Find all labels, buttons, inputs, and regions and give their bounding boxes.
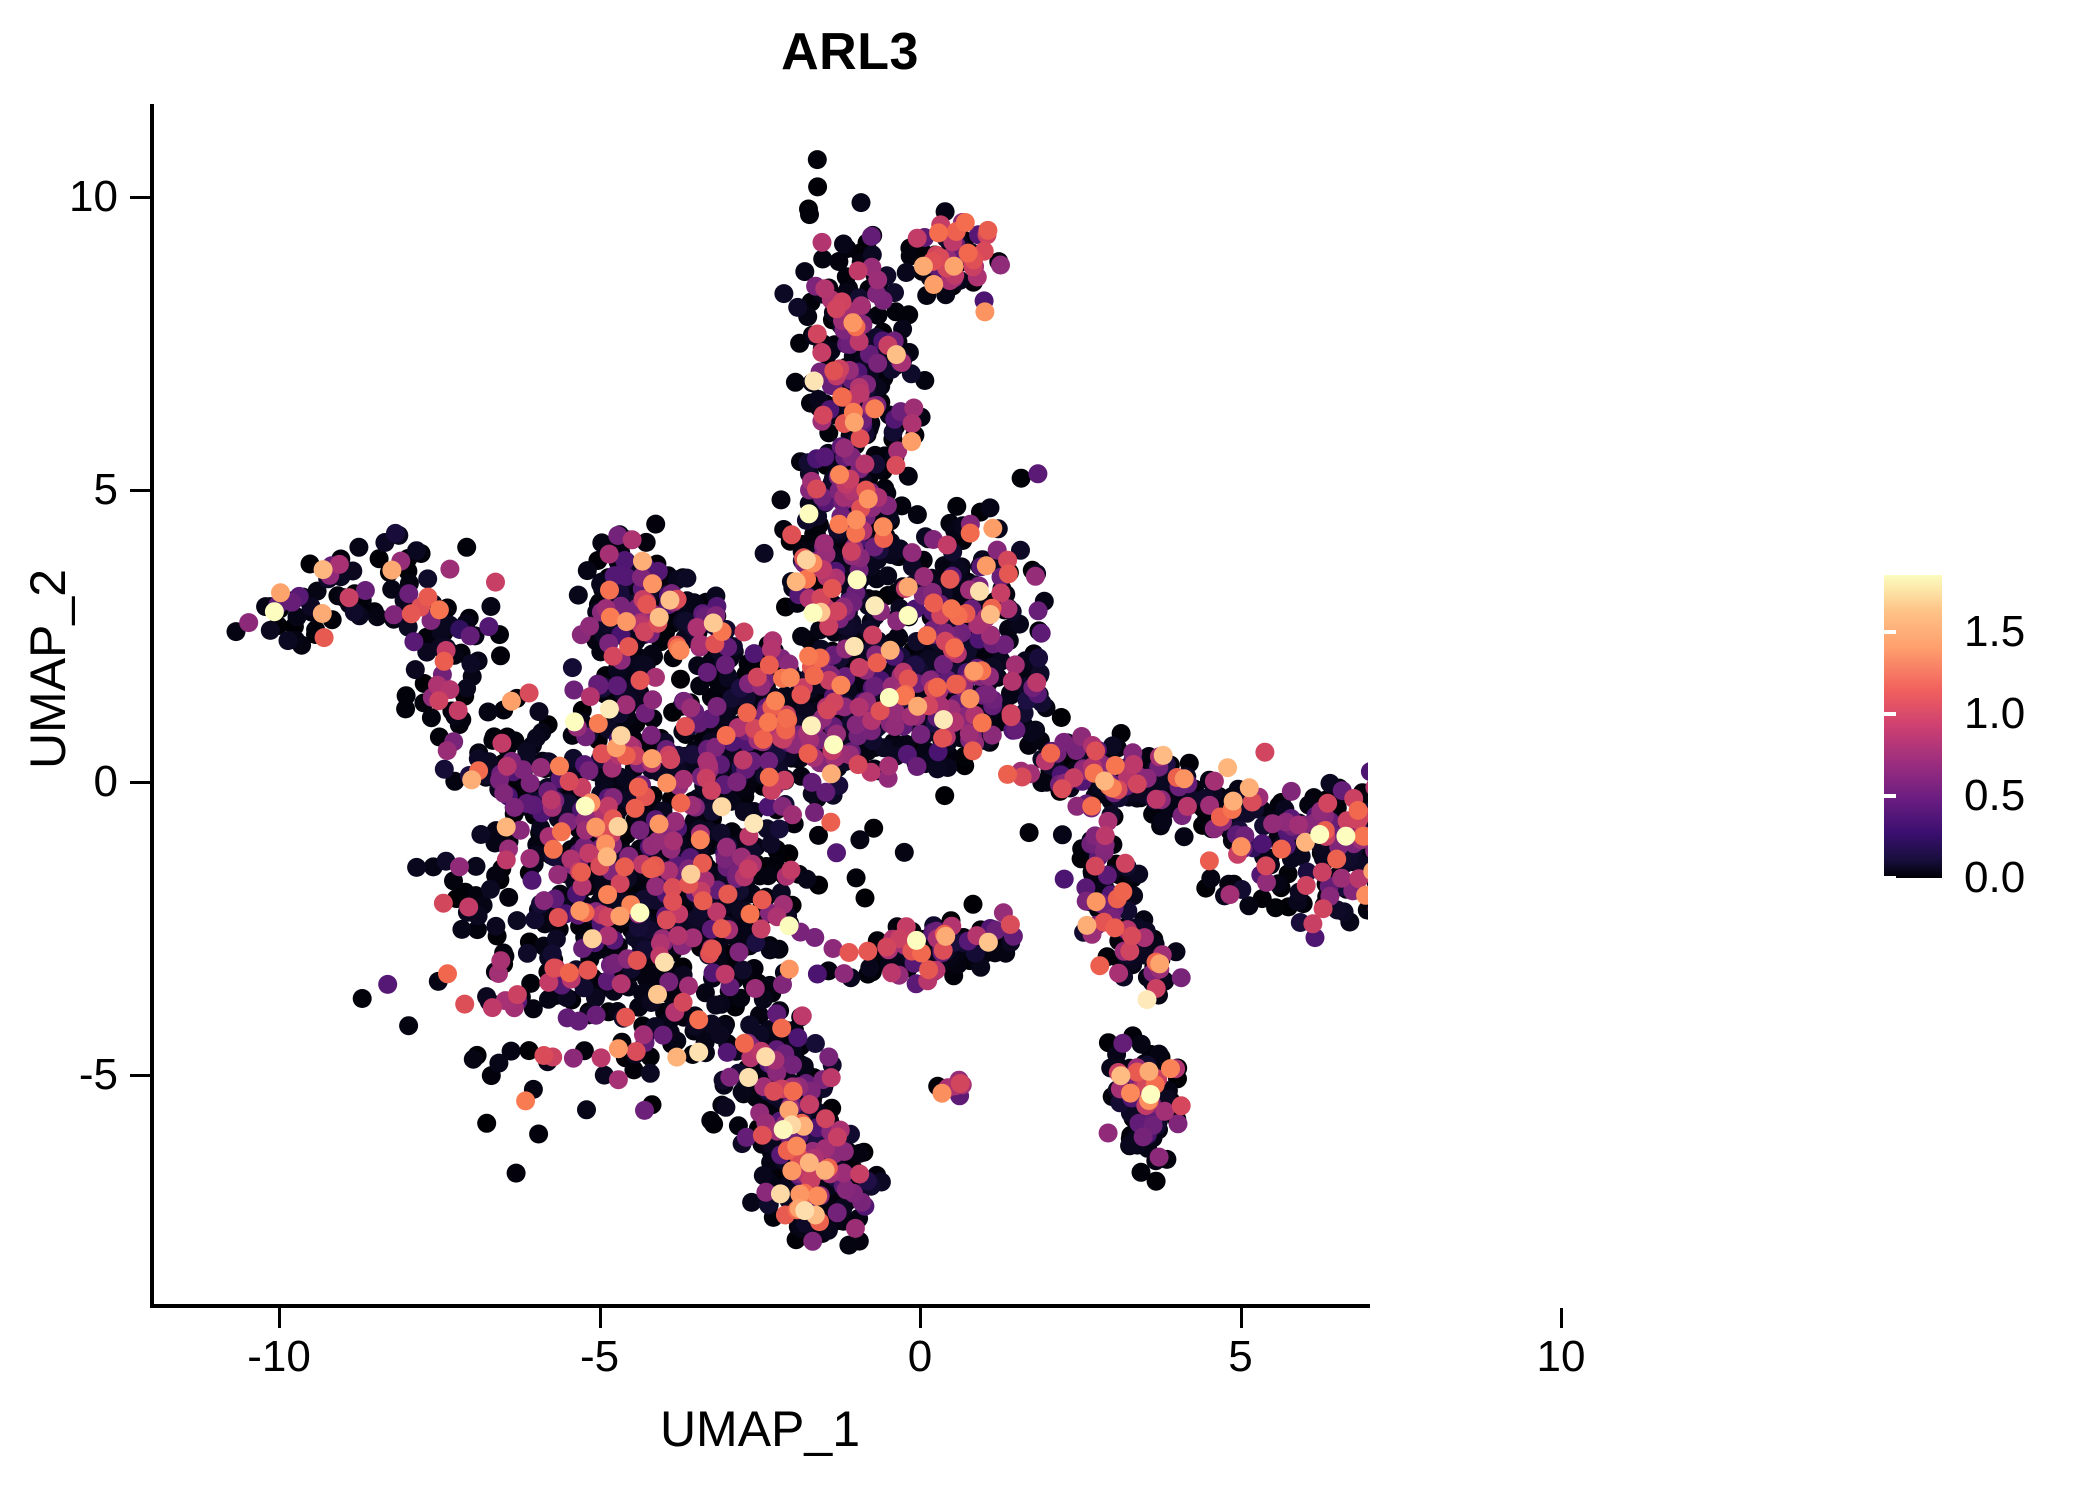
x-tick-mark	[278, 1308, 281, 1328]
scatter-point	[1221, 885, 1240, 904]
scatter-point	[846, 1219, 865, 1238]
scatter-point	[702, 781, 721, 800]
scatter-point	[677, 569, 696, 588]
scatter-point	[774, 284, 793, 303]
colorbar-tick-mark	[2072, 712, 2084, 716]
scatter-point	[520, 684, 539, 703]
scatter-plot-panel	[152, 104, 1368, 1306]
scatter-point	[961, 524, 980, 543]
scatter-point	[1027, 673, 1046, 692]
scatter-point	[850, 830, 869, 849]
scatter-point	[384, 605, 403, 624]
scatter-point	[717, 726, 736, 745]
scatter-point	[881, 641, 900, 660]
page-title: ARL3	[0, 22, 1700, 82]
scatter-point	[1053, 825, 1072, 844]
scatter-point	[548, 865, 567, 884]
scatter-point	[981, 605, 1000, 624]
y-tick-mark	[130, 196, 150, 199]
scatter-point	[800, 205, 819, 224]
scatter-point	[497, 818, 516, 837]
scatter-point	[698, 663, 717, 682]
scatter-point	[1121, 1084, 1140, 1103]
scatter-point	[973, 713, 992, 732]
scatter-point	[402, 604, 421, 623]
scatter-point	[739, 1068, 758, 1087]
scatter-point	[928, 678, 947, 697]
scatter-point	[404, 632, 423, 651]
scatter-point	[716, 965, 735, 984]
scatter-point	[978, 685, 997, 704]
scatter-point	[313, 604, 332, 623]
scatter-point	[782, 1161, 801, 1180]
scatter-point	[848, 570, 867, 589]
scatter-point	[746, 979, 765, 998]
scatter-point	[349, 538, 368, 557]
scatter-point	[661, 750, 680, 769]
scatter-point	[609, 817, 628, 836]
scatter-point	[498, 757, 517, 776]
scatter-point	[813, 250, 832, 269]
scatter-point	[832, 387, 851, 406]
scatter-point	[544, 840, 563, 859]
scatter-point	[936, 927, 955, 946]
scatter-point	[824, 735, 843, 754]
x-tick-label: -10	[247, 1332, 311, 1382]
scatter-point	[712, 919, 731, 938]
scatter-point	[899, 578, 918, 597]
scatter-point	[754, 730, 773, 749]
scatter-point	[849, 755, 868, 774]
scatter-point	[502, 692, 521, 711]
scatter-point	[1113, 1034, 1132, 1053]
scatter-point	[600, 700, 619, 719]
scatter-point	[1150, 954, 1169, 973]
scatter-point	[1282, 782, 1301, 801]
scatter-point	[1218, 758, 1237, 777]
scatter-point	[738, 703, 757, 722]
scatter-point	[998, 765, 1017, 784]
scatter-point	[865, 596, 884, 615]
scatter-point	[560, 963, 579, 982]
scatter-point	[802, 716, 821, 735]
scatter-point	[804, 604, 823, 623]
scatter-point	[1055, 870, 1074, 889]
colorbar-tick-label: 0.0	[1964, 853, 2025, 903]
scatter-point	[689, 1010, 708, 1029]
scatter-point	[564, 1049, 583, 1068]
scatter-point	[800, 1095, 819, 1114]
scatter-point	[753, 1126, 772, 1145]
scatter-point	[1172, 968, 1191, 987]
scatter-point	[945, 257, 964, 276]
scatter-point	[407, 541, 426, 560]
scatter-point	[808, 150, 827, 169]
scatter-point	[805, 803, 824, 822]
colorbar-tick-label: 0.5	[1964, 771, 2025, 821]
scatter-point	[616, 1008, 635, 1027]
scatter-point	[600, 581, 619, 600]
scatter-point	[315, 628, 334, 647]
scatter-point	[959, 244, 978, 263]
scatter-point	[1012, 469, 1031, 488]
scatter-point	[542, 790, 561, 809]
scatter-point	[754, 1166, 773, 1185]
scatter-point	[579, 761, 598, 780]
scatter-point	[865, 399, 884, 418]
scatter-point	[1332, 869, 1351, 888]
scatter-point	[521, 774, 540, 793]
scatter-point	[897, 263, 916, 282]
scatter-point	[845, 637, 864, 656]
scatter-point	[586, 818, 605, 837]
scatter-point	[666, 812, 685, 831]
colorbar-tick-mark	[1884, 630, 1896, 634]
scatter-point	[835, 964, 854, 983]
scatter-point	[650, 608, 669, 627]
scatter-point	[1240, 778, 1259, 797]
scatter-point	[368, 607, 387, 626]
scatter-point	[265, 602, 284, 621]
scatter-point	[911, 725, 930, 744]
scatter-point	[1349, 801, 1368, 820]
scatter-point	[808, 177, 827, 196]
scatter-point	[578, 561, 597, 580]
scatter-point	[735, 623, 754, 642]
colorbar-tick-mark	[2072, 876, 2084, 880]
scatter-point	[669, 926, 688, 945]
scatter-point	[623, 530, 642, 549]
scatter-point	[983, 519, 1002, 538]
scatter-point	[564, 681, 583, 700]
scatter-point	[635, 1101, 654, 1120]
scatter-point	[619, 637, 638, 656]
scatter-point	[549, 908, 568, 927]
scatter-point	[569, 586, 588, 605]
scatter-point	[835, 439, 854, 458]
x-tick-label: 10	[1537, 1332, 1586, 1382]
scatter-point	[646, 877, 665, 896]
scatter-point	[1224, 792, 1243, 811]
scatter-point	[1253, 834, 1272, 853]
scatter-point	[981, 498, 1000, 517]
colorbar-gradient	[1884, 575, 1942, 878]
scatter-point	[828, 602, 847, 621]
scatter-point	[1266, 898, 1285, 917]
scatter-point	[975, 302, 994, 321]
scatter-point	[1128, 775, 1147, 794]
scatter-point	[1105, 918, 1124, 937]
scatter-point	[783, 805, 802, 824]
scatter-point	[608, 676, 627, 695]
scatter-point	[856, 889, 875, 908]
scatter-point	[271, 583, 290, 602]
scatter-point	[903, 414, 922, 433]
colorbar-tick-mark	[1884, 876, 1896, 880]
colorbar-tick-mark	[2072, 630, 2084, 634]
y-axis-title: UMAP_2	[19, 369, 77, 969]
scatter-point	[628, 951, 647, 970]
scatter-point	[406, 660, 425, 679]
scatter-point	[977, 556, 996, 575]
scatter-point	[279, 631, 298, 650]
scatter-point	[716, 1098, 735, 1117]
scatter-point	[671, 670, 690, 689]
scatter-point	[784, 1082, 803, 1101]
scatter-point	[808, 1187, 827, 1206]
scatter-point	[946, 675, 965, 694]
scatter-point	[933, 1084, 952, 1103]
scatter-point	[486, 917, 505, 936]
scatter-point	[435, 652, 454, 671]
scatter-point	[459, 898, 478, 917]
scatter-point	[708, 697, 727, 716]
scatter-point	[1086, 857, 1105, 876]
scatter-point	[450, 857, 469, 876]
scatter-point	[580, 617, 599, 636]
scatter-point	[935, 786, 954, 805]
scatter-point	[491, 646, 510, 665]
scatter-point	[834, 235, 853, 254]
scatter-point	[805, 372, 824, 391]
scatter-point	[491, 951, 510, 970]
scatter-point	[239, 613, 258, 632]
scatter-point	[734, 751, 753, 770]
scatter-point	[261, 621, 280, 640]
scatter-point	[902, 432, 921, 451]
scatter-point	[626, 799, 645, 818]
scatter-point	[999, 564, 1018, 583]
scatter-point	[951, 1074, 970, 1093]
scatter-point	[570, 901, 589, 920]
scatter-point	[735, 1034, 754, 1053]
scatter-point	[667, 1048, 686, 1067]
scatter-point	[852, 193, 871, 212]
scatter-point	[1175, 827, 1194, 846]
scatter-point	[1041, 744, 1060, 763]
scatter-point	[960, 689, 979, 708]
scatter-point	[831, 676, 850, 695]
scatter-point	[850, 1165, 869, 1184]
scatter-point	[822, 764, 841, 783]
scatter-point	[1029, 648, 1048, 667]
scatter-point	[849, 261, 868, 280]
scatter-point	[815, 447, 834, 466]
scatter-point	[492, 734, 511, 753]
scatter-point	[457, 538, 476, 557]
scatter-point	[830, 465, 849, 484]
x-axis-title: UMAP_1	[152, 1400, 1368, 1458]
scatter-point	[782, 525, 801, 544]
scatter-point	[479, 617, 498, 636]
scatter-point	[806, 1034, 825, 1053]
scatter-point	[1099, 1124, 1118, 1143]
scatter-point	[991, 256, 1010, 275]
scatter-point	[457, 679, 476, 698]
scatter-point	[908, 697, 927, 716]
scatter-point	[934, 710, 953, 729]
scatter-point	[760, 768, 779, 787]
x-axis-line	[150, 1304, 1370, 1308]
scatter-point	[914, 257, 933, 276]
scatter-point	[1116, 854, 1135, 873]
scatter-point	[646, 515, 665, 534]
x-tick-mark	[1240, 1308, 1243, 1328]
scatter-point	[1255, 743, 1274, 762]
scatter-point	[850, 658, 869, 677]
scatter-point	[1153, 812, 1172, 831]
scatter-point	[660, 591, 679, 610]
colorbar-tick-label: 1.5	[1964, 607, 2025, 657]
scatter-point	[862, 227, 881, 246]
scatter-point	[1113, 882, 1132, 901]
scatter-point	[516, 1091, 535, 1110]
scatter-point	[859, 490, 878, 509]
scatter-point	[924, 594, 943, 613]
scatter-point	[1087, 892, 1106, 911]
scatter-point	[382, 561, 401, 580]
scatter-point	[563, 658, 582, 677]
scatter-point	[1232, 837, 1251, 856]
scatter-point	[507, 1164, 526, 1183]
scatter-point	[671, 794, 690, 813]
scatter-point	[1020, 823, 1039, 842]
scatter-point	[787, 1137, 806, 1156]
scatter-point	[1336, 827, 1355, 846]
scatter-point	[617, 612, 636, 631]
scatter-point	[581, 687, 600, 706]
scatter-point	[438, 741, 457, 760]
scatter-point	[858, 942, 877, 961]
scatter-point	[813, 233, 832, 252]
scatter-point	[764, 1082, 783, 1101]
scatter-point	[1139, 1062, 1158, 1081]
scatter-point	[674, 770, 693, 789]
chart-page: ARL3 -10-50510 -50510 UMAP_1 UMAP_2 0.00…	[0, 0, 2100, 1500]
scatter-point	[808, 965, 827, 984]
scatter-point	[599, 926, 618, 945]
scatter-point	[852, 296, 871, 315]
scatter-point	[828, 1128, 847, 1147]
scatter-point	[701, 1111, 720, 1130]
scatter-point	[1109, 964, 1128, 983]
scatter-point	[766, 691, 785, 710]
x-tick-label: -5	[580, 1332, 619, 1382]
scatter-point	[489, 1054, 508, 1073]
scatter-point	[627, 1042, 646, 1061]
scatter-point	[631, 671, 650, 690]
scatter-point	[1124, 755, 1143, 774]
scatter-point	[481, 880, 500, 899]
scatter-point	[739, 860, 758, 879]
scatter-point	[1147, 790, 1166, 809]
scatter-point	[1172, 1096, 1191, 1115]
scatter-point	[860, 958, 879, 977]
scatter-point	[641, 1064, 660, 1083]
scatter-point	[691, 830, 710, 849]
scatter-point	[643, 749, 662, 768]
scatter-point	[733, 961, 752, 980]
scatter-point	[938, 536, 957, 555]
scatter-point	[578, 961, 597, 980]
scatter-point	[877, 938, 896, 957]
scatter-point	[479, 703, 498, 722]
scatter-point	[933, 729, 952, 748]
scatter-point	[978, 221, 997, 240]
scatter-point	[378, 975, 397, 994]
scatter-point	[600, 545, 619, 564]
scatter-point	[1090, 956, 1109, 975]
scatter-point	[814, 406, 833, 425]
scatter-point	[508, 911, 527, 930]
scatter-point	[534, 1046, 553, 1065]
scatter-point	[745, 644, 764, 663]
scatter-point	[609, 1039, 628, 1058]
scatter-point	[654, 1026, 673, 1045]
scatter-point	[587, 1006, 606, 1025]
scatter-point	[655, 953, 674, 972]
scatter-point	[903, 543, 922, 562]
scatter-point	[1263, 814, 1282, 833]
scatter-point	[759, 866, 778, 885]
scatter-point	[718, 885, 737, 904]
scatter-point	[455, 995, 474, 1014]
scatter-point	[839, 1236, 858, 1255]
scatter-point	[1201, 869, 1220, 888]
scatter-point	[879, 757, 898, 776]
scatter-point	[681, 865, 700, 884]
scatter-point	[688, 618, 707, 637]
scatter-point	[847, 868, 866, 887]
scatter-point	[1361, 762, 1368, 781]
scatter-point	[963, 741, 982, 760]
scatter-point	[434, 894, 453, 913]
scatter-point	[630, 821, 649, 840]
scatter-point	[1001, 915, 1020, 934]
scatter-point	[824, 939, 843, 958]
scatter-point	[942, 599, 961, 618]
scatter-point	[979, 933, 998, 952]
scatter-point	[1122, 927, 1141, 946]
scatter-point	[782, 861, 801, 880]
colorbar-tick-mark	[2072, 794, 2084, 798]
scatter-point	[497, 850, 516, 869]
scatter-point	[1175, 769, 1194, 788]
x-tick-label: 5	[1228, 1332, 1252, 1382]
scatter-point	[577, 1100, 596, 1119]
scatter-point	[855, 455, 874, 474]
colorbar-tick-mark	[1884, 794, 1896, 798]
scatter-point	[798, 870, 817, 889]
scatter-point	[576, 797, 595, 816]
scatter-point	[650, 815, 669, 834]
scatter-point	[842, 542, 861, 561]
scatter-point	[535, 891, 554, 910]
scatter-point	[945, 638, 964, 657]
scatter-point	[815, 534, 834, 553]
scatter-point	[676, 717, 695, 736]
scatter-point	[815, 279, 834, 298]
scatter-point	[642, 726, 661, 745]
scatter-point	[539, 990, 558, 1009]
scatter-point	[617, 695, 636, 714]
y-tick-label: -5	[0, 1050, 118, 1100]
scatter-point	[712, 797, 731, 816]
scatter-point	[808, 325, 827, 344]
scatter-point	[819, 1048, 838, 1067]
scatter-point	[793, 1006, 812, 1025]
scatter-point	[461, 626, 480, 645]
